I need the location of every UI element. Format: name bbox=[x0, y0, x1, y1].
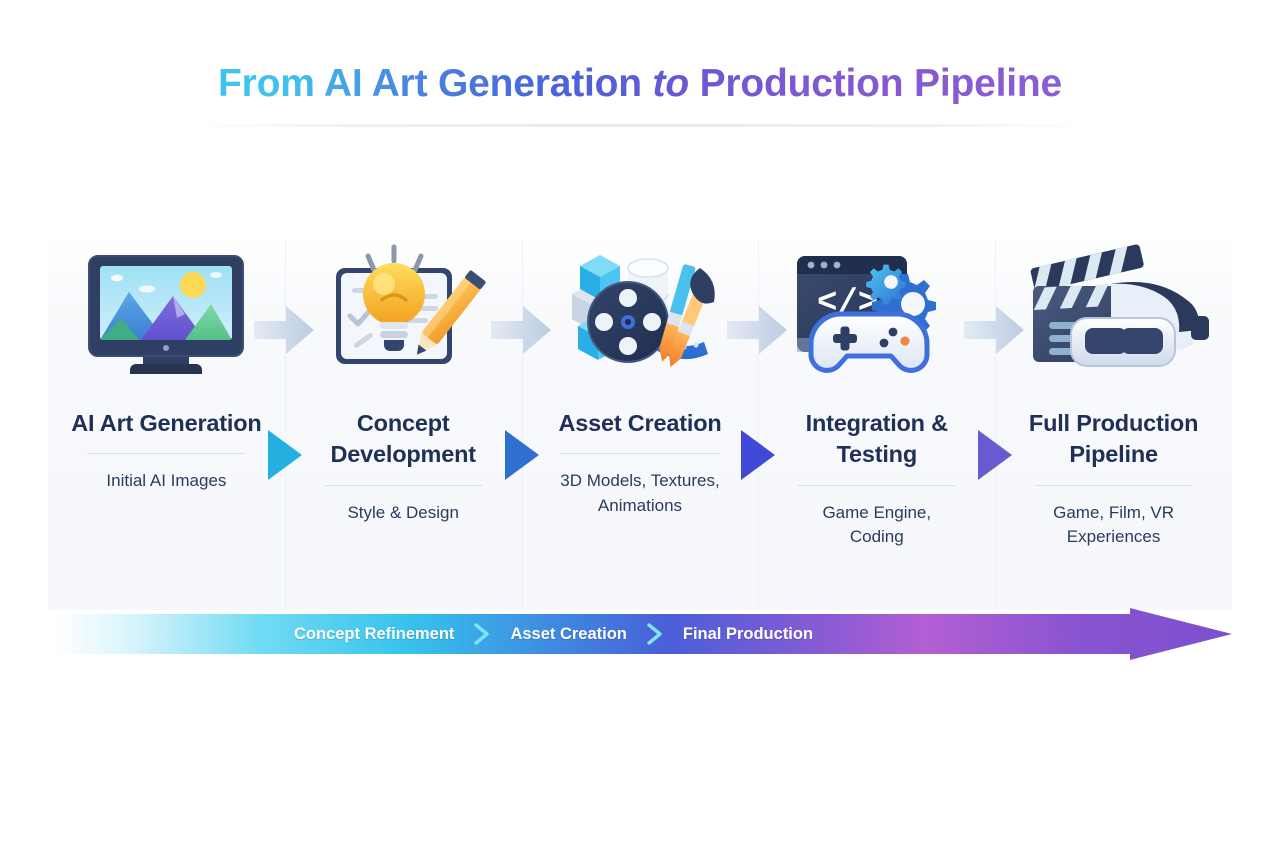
stage-title: Integration & Testing bbox=[758, 408, 995, 471]
stage-subtitle: Game, Film, VR Experiences bbox=[1049, 501, 1178, 550]
cubes-filmreel-brushes-icon bbox=[522, 238, 759, 390]
lightbulb-notepad-pencil-icon bbox=[285, 238, 522, 390]
stage-title: Full Production Pipeline bbox=[995, 408, 1232, 471]
connector-arrow-icon bbox=[727, 302, 789, 358]
stage-divider bbox=[561, 453, 719, 454]
stage-ai-art-generation[interactable]: AI Art Generation Initial AI Images bbox=[48, 238, 285, 610]
stage-divider bbox=[1035, 485, 1193, 486]
stage-divider bbox=[324, 485, 482, 486]
stage-arrow-3-icon bbox=[737, 428, 779, 482]
stage-subtitle: 3D Models, Textures, Animations bbox=[556, 469, 723, 518]
stage-arrow-2-icon bbox=[501, 428, 543, 482]
monitor-landscape-icon bbox=[48, 238, 285, 390]
connector-arrow-icon bbox=[254, 302, 316, 358]
connector-arrow-icon bbox=[491, 302, 553, 358]
stage-subtitle: Game Engine, Coding bbox=[818, 501, 935, 550]
stage-title: Concept Development bbox=[285, 408, 522, 471]
page-title: From AI Art Generation to Production Pip… bbox=[218, 62, 1062, 106]
stage-arrow-4-icon bbox=[974, 428, 1016, 482]
stage-concept-development[interactable]: Concept Development Style & Design bbox=[285, 238, 522, 610]
page-title-part1: From AI Art Generation bbox=[218, 62, 653, 105]
stage-title: AI Art Generation bbox=[63, 408, 269, 439]
stage-title: Asset Creation bbox=[550, 408, 729, 439]
stage-arrow-1-icon bbox=[264, 428, 306, 482]
title-underline-rule bbox=[186, 124, 1092, 127]
stage-divider bbox=[798, 485, 956, 486]
page-title-part2: Production Pipeline bbox=[689, 62, 1062, 105]
flow-progress-arrow bbox=[56, 608, 1232, 660]
page-title-emphasis: to bbox=[653, 62, 689, 105]
stage-integration-testing[interactable]: </> bbox=[758, 238, 995, 610]
title-block: From AI Art Generation to Production Pip… bbox=[0, 62, 1280, 106]
connector-arrow-icon bbox=[964, 302, 1026, 358]
pipeline-stages: AI Art Generation Initial AI Images bbox=[48, 238, 1232, 610]
stage-subtitle: Style & Design bbox=[343, 501, 463, 526]
stage-asset-creation[interactable]: Asset Creation 3D Models, Textures, Anim… bbox=[522, 238, 759, 610]
code-window-gamepad-gear-icon: </> bbox=[758, 238, 995, 390]
clapperboard-vr-headset-icon bbox=[995, 238, 1232, 390]
stage-divider bbox=[87, 453, 245, 454]
stage-subtitle: Initial AI Images bbox=[102, 469, 230, 494]
stage-full-production-pipeline[interactable]: Full Production Pipeline Game, Film, VR … bbox=[995, 238, 1232, 610]
